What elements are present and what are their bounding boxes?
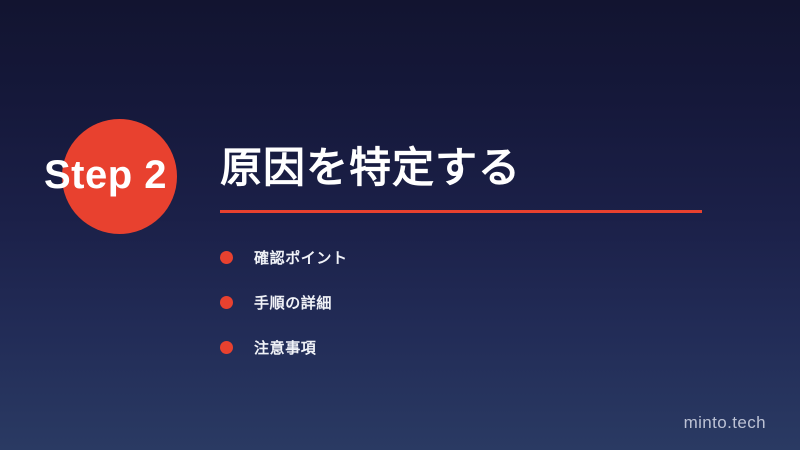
list-item-label: 確認ポイント xyxy=(254,247,348,268)
slide-canvas: Step 2 原因を特定する 確認ポイント 手順の詳細 注意事項 minto.t… xyxy=(0,0,800,450)
list-item-label: 手順の詳細 xyxy=(254,292,332,313)
slide-title: 原因を特定する xyxy=(220,140,760,196)
bullet-list: 確認ポイント 手順の詳細 注意事項 xyxy=(220,235,760,370)
list-item-label: 注意事項 xyxy=(254,337,316,358)
slide-content: 原因を特定する 確認ポイント 手順の詳細 注意事項 xyxy=(220,140,760,370)
list-item: 注意事項 xyxy=(220,325,760,370)
list-item: 手順の詳細 xyxy=(220,280,760,325)
watermark: minto.tech xyxy=(684,413,766,433)
dot-icon xyxy=(220,296,233,309)
step-badge: Step 2 xyxy=(0,0,210,450)
dot-icon xyxy=(220,341,233,354)
list-item: 確認ポイント xyxy=(220,235,760,280)
title-divider xyxy=(220,210,702,213)
dot-icon xyxy=(220,251,233,264)
step-number-label: Step 2 xyxy=(44,151,204,199)
